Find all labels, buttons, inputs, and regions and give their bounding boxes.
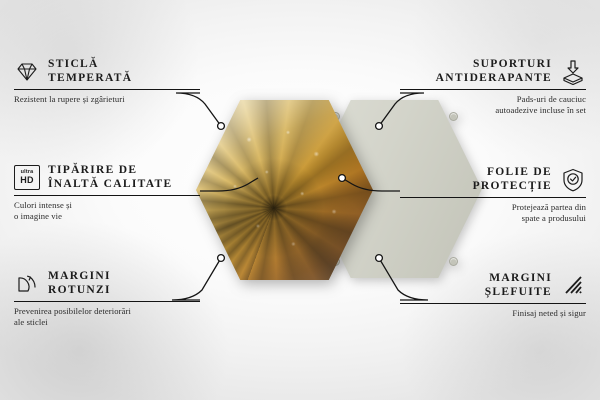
feature-header: MARGINI ȘLEFUITE (371, 272, 586, 299)
title-line-1: SUPORTURI (436, 58, 552, 72)
title-line-2: ÎNALTĂ CALITATE (48, 178, 172, 192)
subtitle-line-1: Prevenirea posibilelor deteriorări (14, 306, 229, 317)
feature-title: STICLĂ TEMPERATĂ (48, 58, 132, 85)
title-line-2: ANTIDERAPANTE (436, 72, 552, 86)
divider (400, 197, 586, 198)
feature-protective-film: FOLIE DE PROTECȚIE Protejează partea din… (371, 166, 586, 223)
feature-tempered-glass: STICLĂ TEMPERATĂ Rezistent la rupere și … (14, 58, 229, 105)
feature-subtitle: Pads-uri de cauciuc autoadezive incluse … (371, 94, 586, 115)
divider (14, 301, 200, 302)
title-line-1: MARGINI (485, 272, 552, 286)
feature-subtitle: Rezistent la rupere și zgârieturi (14, 94, 229, 105)
rubber-pad (449, 257, 458, 266)
title-line-1: FOLIE DE (473, 166, 552, 180)
subtitle-line-1: Finisaj neted și sigur (371, 308, 586, 319)
feature-subtitle: Culori intense și o imagine vie (14, 200, 229, 221)
subtitle-line-1: Rezistent la rupere și zgârieturi (14, 94, 229, 105)
feature-high-quality-print: ultra HD TIPĂRIRE DE ÎNALTĂ CALITATE Cul… (14, 164, 229, 221)
subtitle-line-2: o imagine vie (14, 211, 229, 222)
title-line-1: MARGINI (48, 270, 111, 284)
feature-title: MARGINI ȘLEFUITE (485, 272, 552, 299)
feature-anti-slip-supports: SUPORTURI ANTIDERAPANTE Pads-uri de cauc… (371, 58, 586, 115)
title-line-2: ROTUNZI (48, 284, 111, 298)
title-line-1: TIPĂRIRE DE (48, 164, 172, 178)
feature-header: FOLIE DE PROTECȚIE (371, 166, 586, 193)
feature-header: ultra HD TIPĂRIRE DE ÎNALTĂ CALITATE (14, 164, 229, 191)
press-pad-icon (560, 59, 586, 85)
feature-title: MARGINI ROTUNZI (48, 270, 111, 297)
title-line-1: STICLĂ (48, 58, 132, 72)
subtitle-line-1: Protejează partea din (371, 202, 586, 213)
subtitle-line-2: spate a produsului (371, 213, 586, 224)
infographic-canvas: STICLĂ TEMPERATĂ Rezistent la rupere și … (0, 0, 600, 400)
hatched-triangle-icon (560, 273, 586, 299)
feature-title: SUPORTURI ANTIDERAPANTE (436, 58, 552, 85)
divider (400, 89, 586, 90)
feature-header: MARGINI ROTUNZI (14, 270, 229, 297)
diamond-icon (14, 59, 40, 85)
subtitle-line-2: ale sticlei (14, 317, 229, 328)
ultra-hd-bottom-label: HD (20, 176, 34, 185)
shield-check-icon (560, 167, 586, 193)
rounded-corner-icon (14, 271, 40, 297)
divider (14, 195, 200, 196)
feature-header: STICLĂ TEMPERATĂ (14, 58, 229, 85)
divider (400, 303, 586, 304)
subtitle-line-1: Culori intense și (14, 200, 229, 211)
title-line-2: TEMPERATĂ (48, 72, 132, 86)
ultra-hd-icon: ultra HD (14, 165, 40, 190)
feature-subtitle: Prevenirea posibilelor deteriorări ale s… (14, 306, 229, 327)
feature-header: SUPORTURI ANTIDERAPANTE (371, 58, 586, 85)
title-line-2: PROTECȚIE (473, 180, 552, 194)
divider (14, 89, 200, 90)
title-line-2: ȘLEFUITE (485, 286, 552, 300)
subtitle-line-1: Pads-uri de cauciuc (371, 94, 586, 105)
feature-polished-edges: MARGINI ȘLEFUITE Finisaj neted și sigur (371, 272, 586, 319)
feature-subtitle: Finisaj neted și sigur (371, 308, 586, 319)
feature-title: FOLIE DE PROTECȚIE (473, 166, 552, 193)
feature-rounded-edges: MARGINI ROTUNZI Prevenirea posibilelor d… (14, 270, 229, 327)
subtitle-line-2: autoadezive incluse în set (371, 105, 586, 116)
feature-subtitle: Protejează partea din spate a produsului (371, 202, 586, 223)
feature-title: TIPĂRIRE DE ÎNALTĂ CALITATE (48, 164, 172, 191)
